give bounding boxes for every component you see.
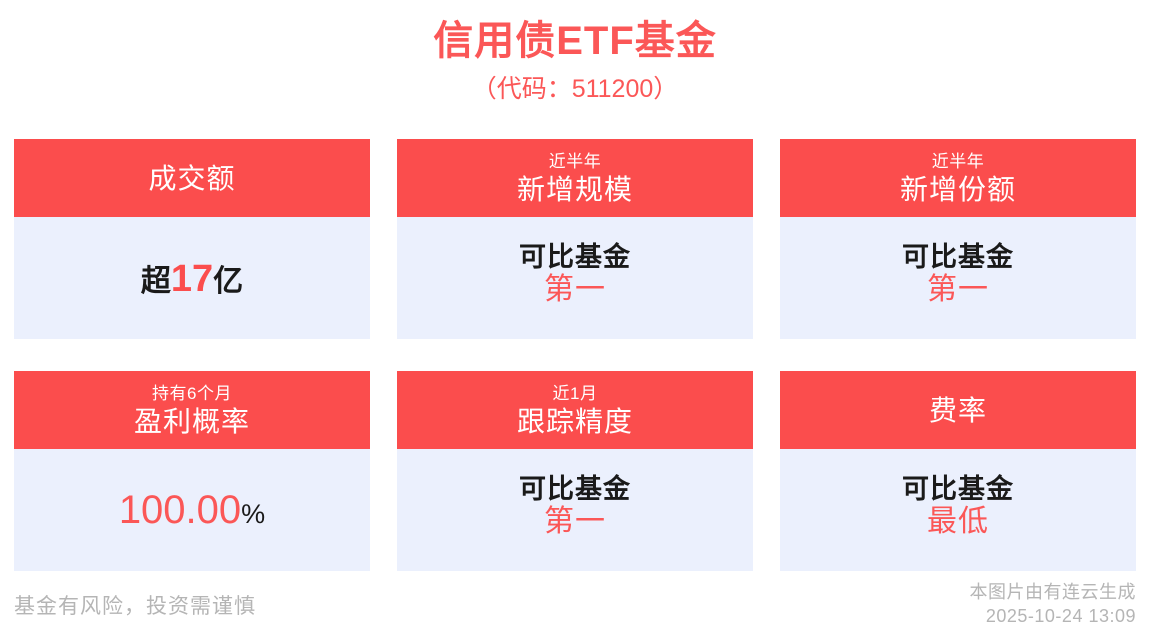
fund-code: （代码：511200） xyxy=(0,74,1150,104)
risk-disclaimer: 基金有风险，投资需谨慎 xyxy=(14,570,256,620)
page-title: 信用债ETF基金 xyxy=(0,18,1150,64)
metric-card-heading: 新增份额 xyxy=(900,172,1016,207)
title-block: 信用债ETF基金 （代码：511200） xyxy=(0,0,1150,104)
metric-card-eyebrow: 近半年 xyxy=(932,151,985,172)
metric-rank-value: 最低 xyxy=(927,505,989,540)
value-accent: 100.00 xyxy=(119,488,241,533)
metric-card-heading: 跟踪精度 xyxy=(517,404,633,439)
metric-card-eyebrow: 持有6个月 xyxy=(152,383,232,404)
metric-card-header: 近1月 跟踪精度 xyxy=(397,371,753,449)
metric-compare-label: 可比基金 xyxy=(519,474,631,505)
metric-card-body: 可比基金 第一 xyxy=(397,217,753,339)
metric-compare-label: 可比基金 xyxy=(902,242,1014,273)
value-suffix: 亿 xyxy=(213,256,243,300)
metric-card-heading: 成交额 xyxy=(148,161,235,196)
metric-card-header: 费率 xyxy=(780,371,1136,449)
metric-card-header: 近半年 新增规模 xyxy=(397,139,753,217)
metric-rank-value: 第一 xyxy=(927,273,989,308)
metric-compare-label: 可比基金 xyxy=(902,474,1014,505)
footer: 基金有风险，投资需谨慎 本图片由有连云生成 2025-10-24 13:09 xyxy=(0,570,1150,632)
metric-card-eyebrow: 近1月 xyxy=(553,383,598,404)
metric-card-body: 可比基金 最低 xyxy=(780,449,1136,571)
metric-rank-value: 第一 xyxy=(544,505,606,540)
metric-card-new-scale: 近半年 新增规模 可比基金 第一 xyxy=(397,139,753,339)
metric-card-body: 超 17 亿 xyxy=(14,217,370,339)
metric-card-eyebrow: 近半年 xyxy=(549,151,602,172)
metric-compare-label: 可比基金 xyxy=(519,242,631,273)
metric-card-header: 近半年 新增份额 xyxy=(780,139,1136,217)
metric-value: 100.00 % xyxy=(119,488,265,533)
metrics-grid: 成交额 超 17 亿 近半年 新增规模 可比基金 第一 近半年 新增份额 可比基… xyxy=(14,139,1136,571)
metric-card-fee-rate: 费率 可比基金 最低 xyxy=(780,371,1136,571)
metric-card-header: 成交额 xyxy=(14,139,370,217)
metric-rank-value: 第一 xyxy=(544,273,606,308)
metric-value: 超 17 亿 xyxy=(141,256,243,300)
metric-card-heading: 费率 xyxy=(929,393,987,428)
metric-card-body: 100.00 % xyxy=(14,449,370,571)
metric-card-turnover: 成交额 超 17 亿 xyxy=(14,139,370,339)
credit-block: 本图片由有连云生成 2025-10-24 13:09 xyxy=(970,570,1137,629)
metric-card-header: 持有6个月 盈利概率 xyxy=(14,371,370,449)
metric-card-heading: 新增规模 xyxy=(517,172,633,207)
value-suffix: % xyxy=(241,499,265,530)
metric-card-body: 可比基金 第一 xyxy=(780,217,1136,339)
metric-card-tracking-accuracy: 近1月 跟踪精度 可比基金 第一 xyxy=(397,371,753,571)
credit-timestamp: 2025-10-24 13:09 xyxy=(970,604,1137,628)
value-prefix: 超 xyxy=(141,256,171,300)
value-accent: 17 xyxy=(171,260,213,298)
metric-card-heading: 盈利概率 xyxy=(134,404,250,439)
metric-card-body: 可比基金 第一 xyxy=(397,449,753,571)
metric-card-profit-probability: 持有6个月 盈利概率 100.00 % xyxy=(14,371,370,571)
credit-source: 本图片由有连云生成 xyxy=(970,580,1137,604)
metric-card-new-shares: 近半年 新增份额 可比基金 第一 xyxy=(780,139,1136,339)
